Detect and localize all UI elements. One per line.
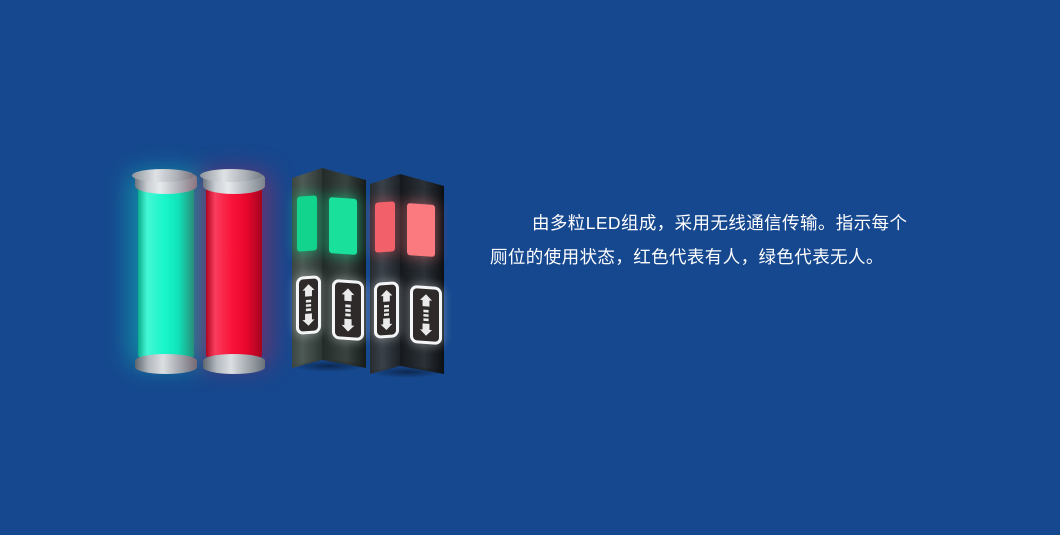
indicator-panel-left-green xyxy=(297,195,317,251)
description-line-2: 厕位的使用状态，红色代表有人，绿色代表无人。 xyxy=(490,240,952,274)
column-base-shadow-red xyxy=(370,366,444,378)
tube-cap-top-red xyxy=(203,170,265,194)
tube-light-surface-green xyxy=(138,180,194,358)
square-column-group xyxy=(288,168,453,383)
cylindrical-led-tube-green xyxy=(138,168,194,368)
product-description-text: 由多粒LED组成，采用无线通信传输。指示每个 厕位的使用状态，红色代表有人，绿色… xyxy=(490,206,952,274)
indicator-panel-left-red xyxy=(375,201,395,252)
occupancy-symbol-icon xyxy=(299,278,318,331)
page-canvas: 由多粒LED组成，采用无线通信传输。指示每个 厕位的使用状态，红色代表有人，绿色… xyxy=(0,0,1060,535)
occupancy-symbol-icon xyxy=(377,284,396,335)
cylindrical-tube-group xyxy=(130,168,290,383)
indicator-panel-right-red xyxy=(407,203,435,257)
occupancy-sign-left-red xyxy=(374,281,399,339)
description-line-1: 由多粒LED组成，采用无线通信传输。指示每个 xyxy=(490,206,952,240)
tube-cap-rim-green xyxy=(132,169,194,182)
tube-cap-rim-red xyxy=(200,169,262,182)
occupancy-symbol-icon xyxy=(413,288,439,342)
indicator-panel-right-green xyxy=(329,197,357,255)
tube-cap-bottom-red xyxy=(203,354,265,374)
cylindrical-led-tube-red xyxy=(206,168,262,368)
column-base-shadow-green xyxy=(292,360,366,372)
occupancy-symbol-icon xyxy=(335,282,361,338)
occupancy-sign-right-green xyxy=(332,279,364,341)
occupancy-sign-right-red xyxy=(410,285,442,345)
occupancy-sign-left-green xyxy=(296,275,321,335)
tube-cap-top-green xyxy=(135,170,197,194)
square-led-column-red xyxy=(370,174,444,374)
tube-light-surface-red xyxy=(206,180,262,358)
tube-cap-bottom-green xyxy=(135,354,197,374)
square-led-column-green xyxy=(292,168,366,368)
